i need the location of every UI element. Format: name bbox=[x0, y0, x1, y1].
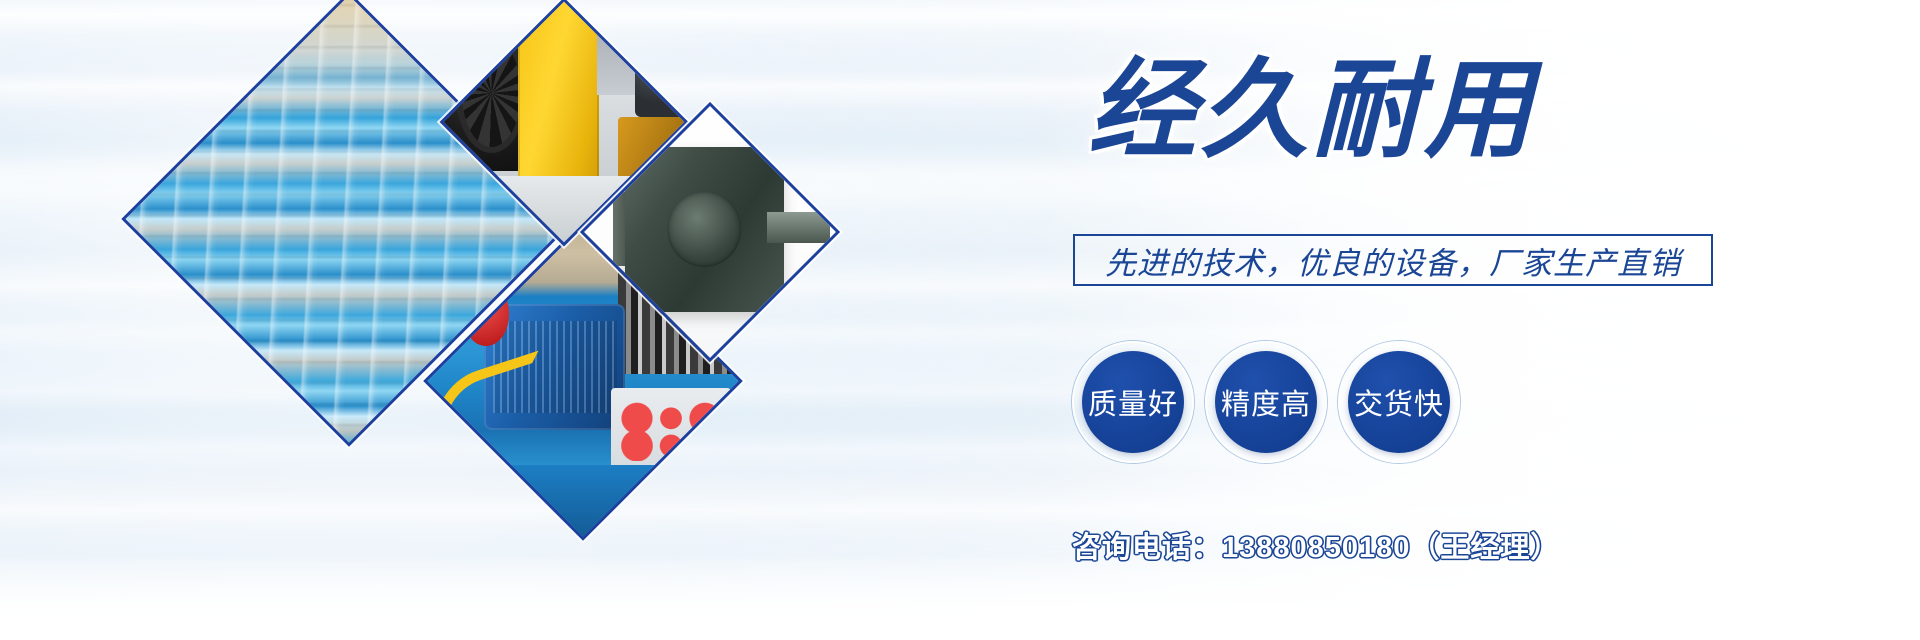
feature-badge-quality: 质量好 bbox=[1072, 341, 1194, 463]
base-plate-detail bbox=[423, 465, 743, 540]
feature-badge-label: 精度高 bbox=[1221, 381, 1311, 423]
feature-badge-label: 质量好 bbox=[1088, 381, 1178, 423]
pipe-detail bbox=[597, 0, 641, 95]
feature-badge-precision: 精度高 bbox=[1205, 341, 1327, 463]
feature-badge-delivery: 交货快 bbox=[1338, 341, 1460, 463]
pump-shaft bbox=[767, 212, 830, 243]
contact-phone-text: 咨询电话：13880850180（王经理） bbox=[1072, 524, 1560, 566]
feature-badges: 质量好 精度高 交货快 bbox=[1072, 341, 1460, 463]
dark-motor-detail bbox=[635, 8, 689, 117]
diamond-photo-collage bbox=[0, 0, 900, 640]
subtitle-box: 先进的技术，优良的设备，厂家生产直销 bbox=[1073, 234, 1713, 286]
promo-banner: 经久耐用 先进的技术，优良的设备，厂家生产直销 质量好 精度高 交货快 咨询电话… bbox=[0, 0, 1920, 640]
pump-body bbox=[625, 147, 784, 312]
red-button-panel-detail bbox=[611, 388, 731, 472]
feature-badge-label: 交货快 bbox=[1354, 381, 1444, 423]
subtitle-text: 先进的技术，优良的设备，厂家生产直销 bbox=[1105, 238, 1681, 283]
headline: 经久耐用 bbox=[1088, 52, 1536, 169]
